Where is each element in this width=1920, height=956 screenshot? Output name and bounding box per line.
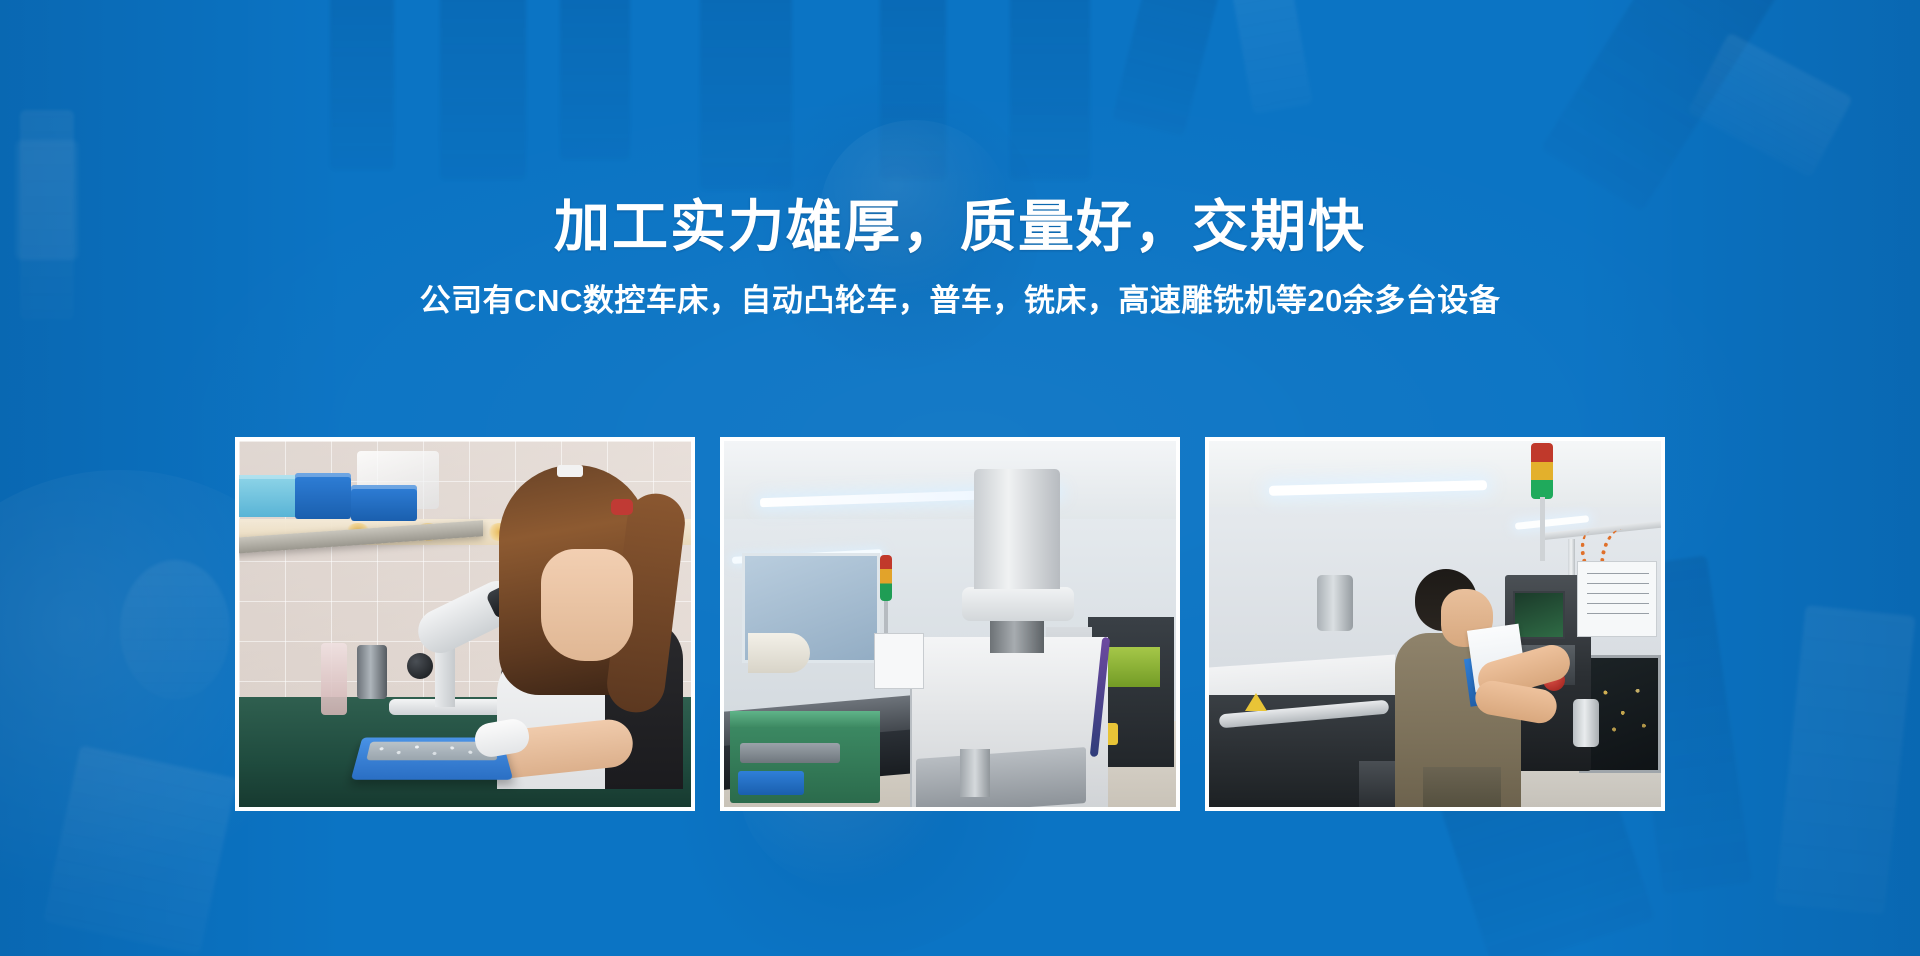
cnc-display-screen [1513, 591, 1565, 639]
reagent-bottle [321, 643, 347, 715]
worker-face [541, 549, 633, 661]
watermark-rod-right-2 [1687, 32, 1853, 177]
gallery-photo-operator-console[interactable] [1205, 437, 1665, 811]
workshop-ceiling [724, 441, 1176, 519]
cart-top-shelf [730, 711, 880, 727]
chip-extractor-hood [1317, 575, 1353, 631]
process-sheet-text [1587, 573, 1649, 623]
gallery-photo-cnc-workshop[interactable] [720, 437, 1180, 811]
air-duct [748, 633, 810, 673]
operator-trousers [1423, 767, 1501, 807]
mist-collector-base [962, 587, 1074, 621]
signal-tower-mast [1540, 497, 1545, 561]
watermark-shaft-right-a [1112, 0, 1223, 137]
watermark-part-bottom-left [43, 745, 237, 954]
hair-tie [611, 499, 633, 515]
warning-triangle-icon [1245, 693, 1267, 711]
hair-clip [557, 465, 583, 477]
watermark-pin-c [560, 0, 630, 160]
watermark-pin-f [1010, 0, 1090, 180]
photo-3-scene [1209, 441, 1661, 807]
storage-basket-3 [351, 485, 417, 521]
watermark-pin-e [880, 0, 946, 180]
page-title: 加工实力雄厚，质量好，交期快 [0, 196, 1920, 258]
gallery-photo-quality-inspection[interactable] [235, 437, 695, 811]
machine-leg [960, 749, 990, 797]
storage-basket-1 [239, 475, 299, 517]
chip-bin [1104, 647, 1160, 687]
watermark-rod-right [1540, 0, 1780, 212]
watermark-pin-a [330, 0, 394, 170]
mist-collector-column [974, 469, 1060, 589]
signal-tower-lamp [880, 555, 892, 601]
page-subtitle: 公司有CNC数控车床，自动凸轮车，普车，铣床，高速雕铣机等20余多台设备 [0, 282, 1920, 321]
watermark-washer-left [120, 560, 230, 700]
watermark-shaft-right-b [1227, 0, 1312, 114]
machining-sparks [1593, 665, 1655, 757]
metal-cylinder [357, 645, 387, 699]
signal-tower-light [1531, 443, 1553, 499]
shop-ceiling [1209, 441, 1661, 507]
watermark-tool-right-2 [1775, 605, 1916, 915]
cart-gray-tray [740, 743, 840, 763]
promo-banner: 加工实力雄厚，质量好，交期快 公司有CNC数控车床，自动凸轮车，普车，铣床，高速… [0, 0, 1920, 956]
cart-blue-bin [738, 771, 804, 795]
machine-door-panel [874, 633, 924, 689]
oil-bottle [1573, 699, 1599, 747]
chip-conveyor-neck [990, 617, 1044, 653]
watermark-pin-b [440, 0, 526, 180]
microscope-focus-knob [407, 653, 433, 679]
storage-basket-2 [295, 473, 351, 519]
photo-2-scene [724, 441, 1176, 807]
photo-gallery [235, 437, 1665, 811]
watermark-pin-d [700, 0, 792, 190]
photo-1-scene [239, 441, 691, 807]
